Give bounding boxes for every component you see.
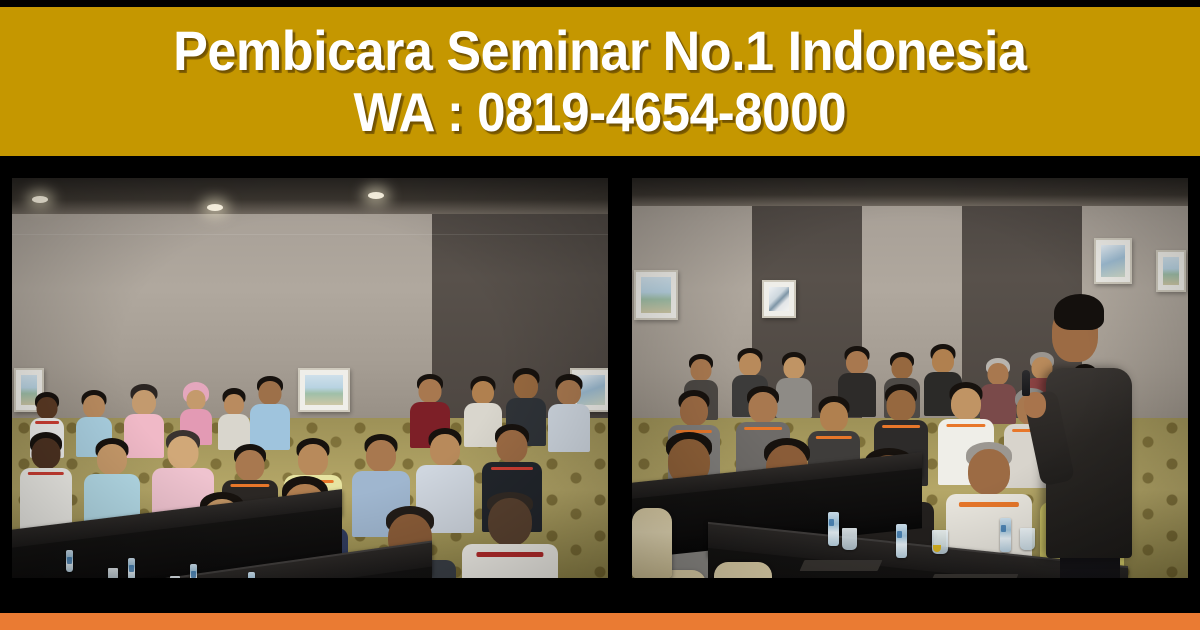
bottom-accent-bar [0, 613, 1200, 630]
audience-person [250, 378, 290, 448]
wall-artwork-frame [1156, 250, 1186, 292]
wall-artwork-frame [634, 270, 678, 320]
drinking-glass [108, 568, 118, 578]
seminar-photo-right [632, 178, 1188, 578]
audience-person [218, 390, 250, 448]
water-bottle [248, 572, 255, 578]
wall-seam [12, 234, 608, 235]
juice-glass [932, 530, 948, 554]
water-bottle [190, 564, 197, 578]
seminar-chair [632, 508, 672, 578]
seminar-chair [714, 562, 772, 578]
audience-person [548, 376, 590, 450]
water-bottle [128, 558, 135, 578]
water-bottle [828, 512, 839, 546]
microphone-icon [1022, 370, 1030, 396]
audience-person-front [462, 494, 558, 578]
water-bottle [896, 524, 907, 558]
speaker-hair [1054, 294, 1104, 330]
photo-left-scene [12, 178, 608, 578]
seminar-photo-left [12, 178, 608, 578]
wall-artwork-frame [1094, 238, 1132, 284]
ceiling [632, 178, 1188, 206]
ceiling-light-icon [368, 192, 384, 199]
water-bottle [66, 550, 73, 572]
ceiling [12, 178, 608, 214]
audience-person [20, 434, 72, 526]
wall-artwork-frame [762, 280, 796, 318]
drinking-glass [842, 528, 857, 550]
table-mat [930, 574, 1019, 578]
drinking-glass [1020, 528, 1035, 550]
ceiling-light-icon [32, 196, 48, 203]
ceiling-light-icon [207, 204, 223, 211]
banner-title: Pembicara Seminar No.1 Indonesia [173, 23, 1026, 79]
drinking-glass [170, 576, 180, 578]
poster-canvas: Pembicara Seminar No.1 Indonesia WA : 08… [0, 0, 1200, 630]
banner-whatsapp-number: WA : 0819-4654-8000 [354, 85, 847, 140]
water-bottle [1000, 518, 1011, 552]
wall-artwork-frame [298, 368, 350, 412]
table-mat [800, 560, 883, 571]
photo-right-scene [632, 178, 1188, 578]
headline-banner: Pembicara Seminar No.1 Indonesia WA : 08… [0, 7, 1200, 156]
